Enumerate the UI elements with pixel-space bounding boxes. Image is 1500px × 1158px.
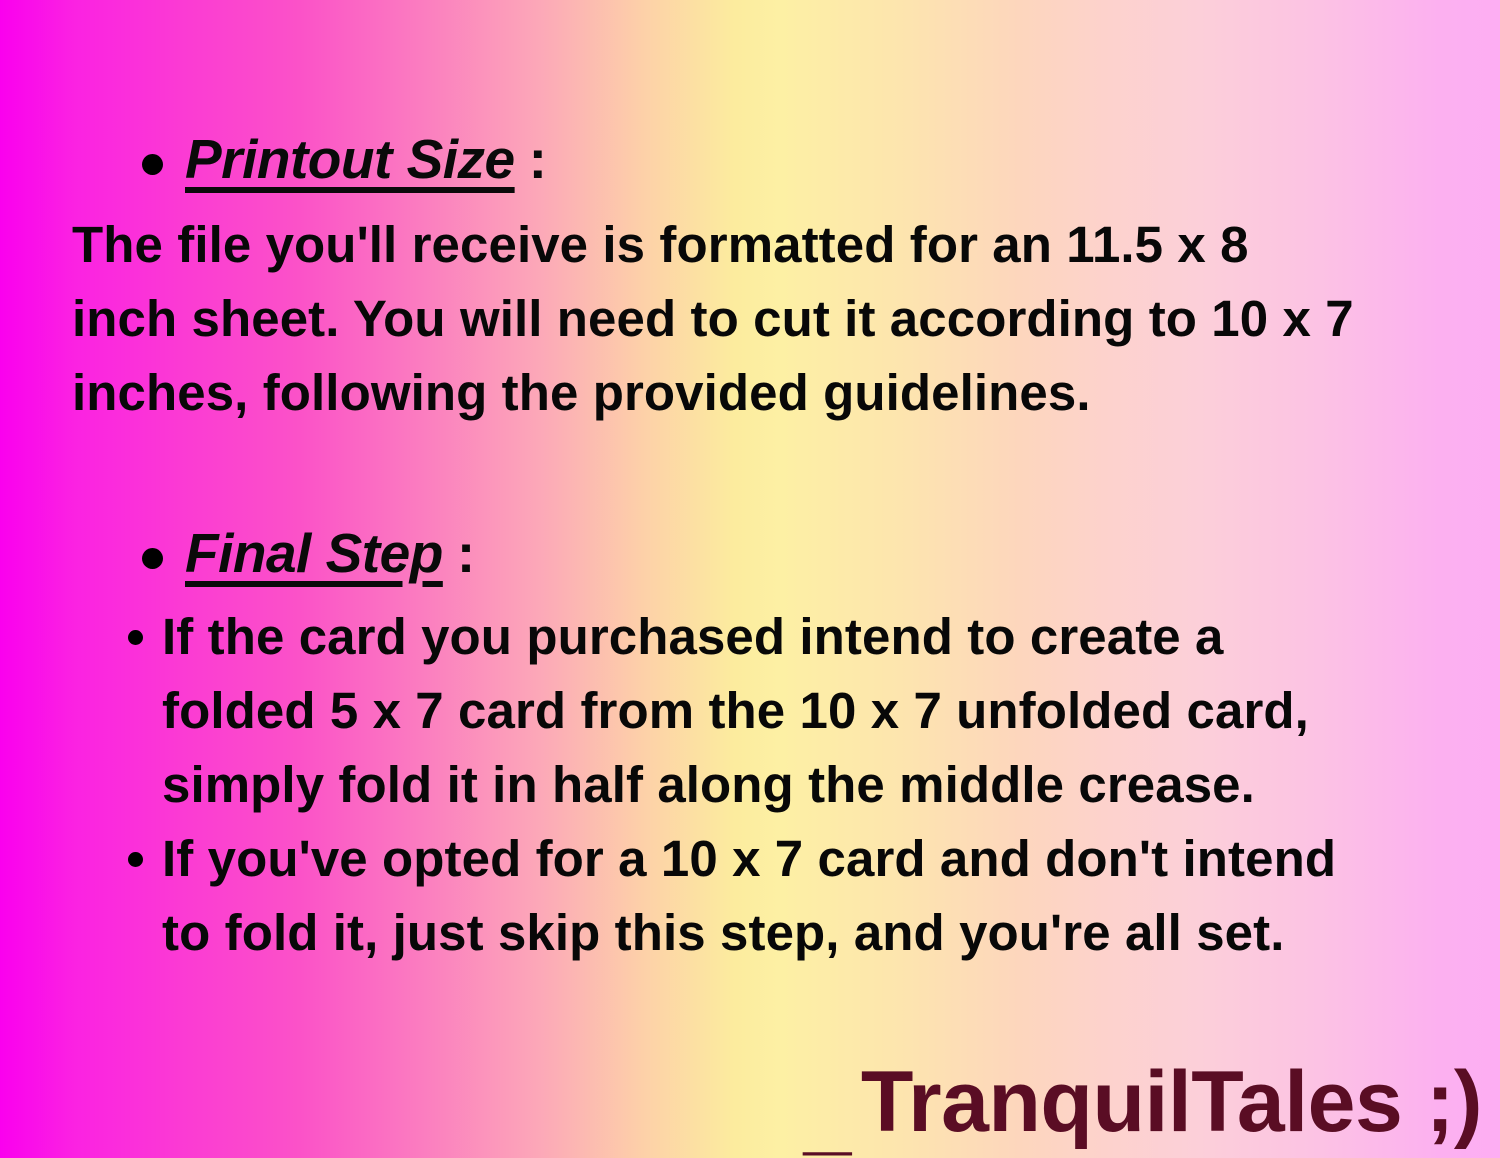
signature: _TranquilTales ;) [803,1052,1482,1152]
list-item-line: If the card you purchased intend to crea… [162,600,1309,674]
list-item-line: If you've opted for a 10 x 7 card and do… [162,822,1336,896]
list-item: If you've opted for a 10 x 7 card and do… [128,822,1336,970]
heading-text-wrapper: Printout Size: [185,128,546,190]
paragraph-line: The file you'll receive is formatted for… [72,208,1472,282]
heading-label-final-step: Final Step [185,522,443,584]
poster-content: Printout Size: The file you'll receive i… [0,0,1500,1158]
list-item-text: If you've opted for a 10 x 7 card and do… [162,822,1336,970]
heading-final-step: Final Step: [142,522,475,584]
round-bullet-icon [128,852,143,867]
list-item-line: folded 5 x 7 card from the 10 x 7 unfold… [162,674,1309,748]
paragraph-line: inches, following the provided guideline… [72,356,1472,430]
heading-colon-final-step: : [443,522,475,584]
signature-name: TranquilTales [861,1054,1403,1150]
list-item-text: If the card you purchased intend to crea… [162,600,1309,822]
signature-dash: _ [803,1066,850,1158]
list-item: If the card you purchased intend to crea… [128,600,1309,822]
heading-colon-printout-size: : [515,128,547,190]
heading-label-printout-size: Printout Size [185,128,515,190]
list-item-line: to fold it, just skip this step, and you… [162,896,1336,970]
poster-canvas: Printout Size: The file you'll receive i… [0,0,1500,1158]
paragraph-line: inch sheet. You will need to cut it acco… [72,282,1472,356]
round-bullet-icon [128,630,143,645]
heading-text-wrapper: Final Step: [185,522,475,584]
paragraph-printout-size: The file you'll receive is formatted for… [72,208,1472,430]
round-bullet-icon [142,548,163,569]
heading-printout-size: Printout Size: [142,128,546,190]
list-item-line: simply fold it in half along the middle … [162,748,1309,822]
signature-wink [1402,1054,1425,1150]
signature-wink-glyph: ;) [1426,1054,1482,1150]
round-bullet-icon [142,154,163,175]
